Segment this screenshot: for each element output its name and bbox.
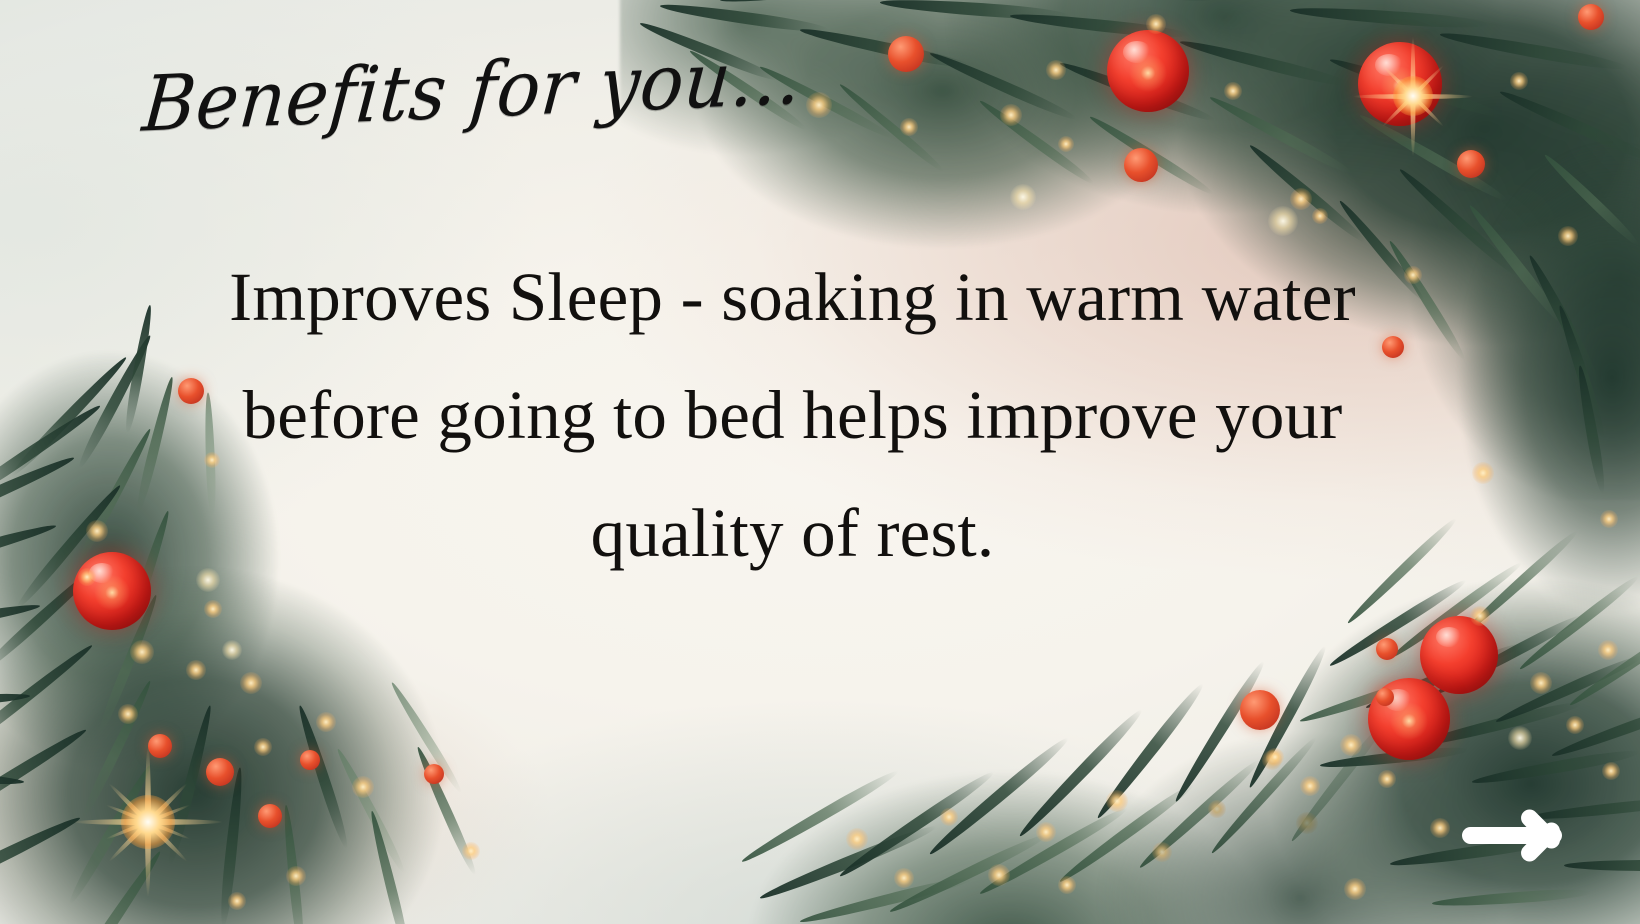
ornament-small-br-1 xyxy=(1240,690,1280,730)
ornament-left-1 xyxy=(73,552,151,630)
slide-canvas: Benefits for you... Improves Sleep - soa… xyxy=(0,0,1640,924)
ornament-small-top-2 xyxy=(1124,148,1158,182)
ornament-small-top-5 xyxy=(1382,336,1404,358)
ornament-sparkle xyxy=(1116,41,1180,105)
ornament-bottom-right-1 xyxy=(1420,616,1498,694)
sparkle-star-bottom-left xyxy=(73,747,223,897)
ornament-small-left-5 xyxy=(300,750,320,770)
arrow-right-icon[interactable] xyxy=(1462,800,1590,870)
ornament-small-top-4 xyxy=(1578,4,1604,30)
ornament-small-br-3 xyxy=(1376,688,1394,706)
ornament-small-left-4 xyxy=(258,804,282,828)
ornament-small-top-1 xyxy=(888,36,924,72)
ornament-gloss xyxy=(1436,627,1463,647)
ornament-top-1 xyxy=(1107,30,1189,112)
sparkle-star-top xyxy=(1353,36,1473,156)
body-text: Improves Sleep - soaking in warm water b… xyxy=(200,238,1385,592)
ornament-small-left-6 xyxy=(424,764,444,784)
ornament-small-br-2 xyxy=(1376,638,1398,660)
